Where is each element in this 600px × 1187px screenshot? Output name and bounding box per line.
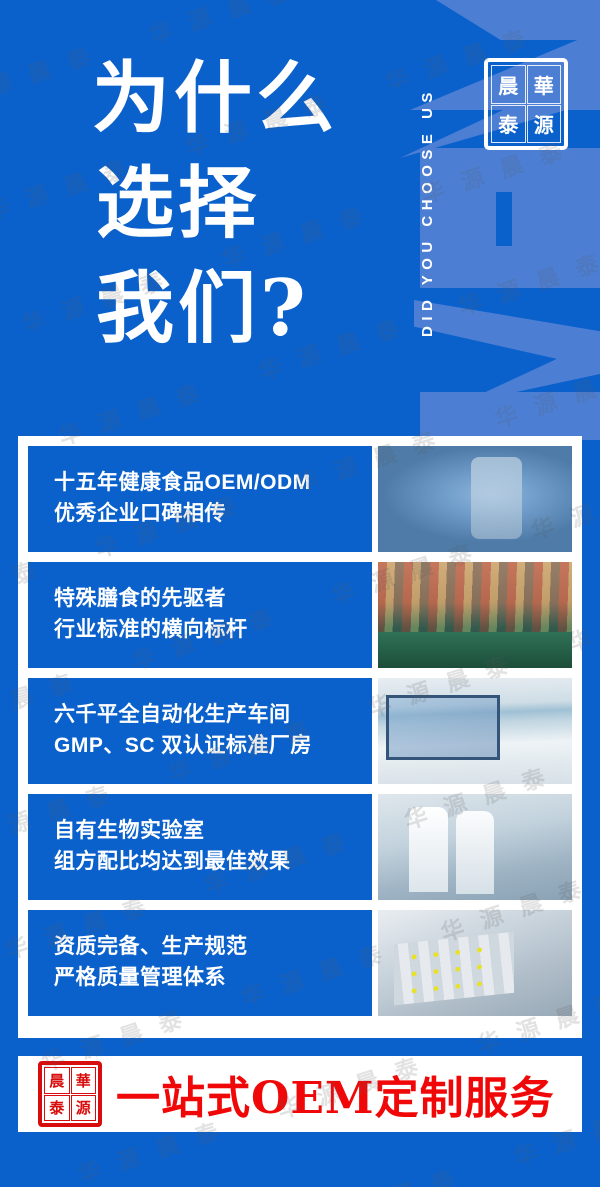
seal-char-yuan: 源 xyxy=(71,1095,97,1122)
headline-line-2: 选择 xyxy=(92,151,338,256)
seal-char-tai: 泰 xyxy=(491,105,526,144)
page-title: 为什么 选择 我们? xyxy=(92,46,338,361)
card-line-2: 行业标准的横向标杆 xyxy=(54,618,372,643)
bottom-banner[interactable]: 華 源 晨 泰 一站式OEM定制服务 xyxy=(18,1056,582,1132)
brand-seal-red: 華 源 晨 泰 xyxy=(38,1061,102,1127)
list-item[interactable]: 资质完备、生产规范 严格质量管理体系 xyxy=(28,910,572,1016)
seal-char-tai: 泰 xyxy=(44,1095,70,1122)
banner-slogan: 一站式OEM定制服务 xyxy=(116,1062,555,1126)
card-line-1: 资质完备、生产规范 xyxy=(54,935,372,960)
card-text-block: 自有生物实验室 组方配比均达到最佳效果 xyxy=(28,794,372,900)
card-line-2: GMP、SC 双认证标准厂房 xyxy=(54,734,372,759)
card-photo-cleanroom xyxy=(378,678,572,784)
poster-root: 为什么 选择 我们? DID YOU CHOOSE US 華 源 晨 泰 十五年… xyxy=(0,0,600,1187)
card-line-2: 严格质量管理体系 xyxy=(54,966,372,991)
vertical-english-tagline: DID YOU CHOOSE US xyxy=(410,26,436,398)
card-line-1: 六千平全自动化生产车间 xyxy=(54,703,372,728)
card-photo-lab-technician xyxy=(378,446,572,552)
card-text-block: 资质完备、生产规范 严格质量管理体系 xyxy=(28,910,372,1016)
card-line-2: 组方配比均达到最佳效果 xyxy=(54,850,372,875)
list-item[interactable]: 十五年健康食品OEM/ODM 优秀企业口碑相传 xyxy=(28,446,572,552)
feature-card-list: 十五年健康食品OEM/ODM 优秀企业口碑相传 特殊膳食的先驱者 行业标准的横向… xyxy=(18,436,582,1038)
headline-line-1: 为什么 xyxy=(92,46,338,151)
card-text-block: 六千平全自动化生产车间 GMP、SC 双认证标准厂房 xyxy=(28,678,372,784)
card-photo-blister-packing xyxy=(378,910,572,1016)
card-line-1: 十五年健康食品OEM/ODM xyxy=(54,471,372,496)
list-item[interactable]: 六千平全自动化生产车间 GMP、SC 双认证标准厂房 xyxy=(28,678,572,784)
card-photo-conference xyxy=(378,562,572,668)
headline-line-3: 我们? xyxy=(92,256,338,361)
list-item[interactable]: 特殊膳食的先驱者 行业标准的横向标杆 xyxy=(28,562,572,668)
seal-char-yuan: 源 xyxy=(527,105,562,144)
watermark-tile: 华 源 晨 泰 xyxy=(281,1149,517,1187)
card-line-1: 自有生物实验室 xyxy=(54,819,372,844)
card-photo-filling-line xyxy=(378,794,572,900)
brand-seal-white: 華 源 晨 泰 xyxy=(484,58,568,150)
list-item[interactable]: 自有生物实验室 组方配比均达到最佳效果 xyxy=(28,794,572,900)
seal-char-chen: 晨 xyxy=(491,65,526,104)
card-text-block: 十五年健康食品OEM/ODM 优秀企业口碑相传 xyxy=(28,446,372,552)
seal-char-hua: 華 xyxy=(71,1067,97,1094)
hero-section: 为什么 选择 我们? DID YOU CHOOSE US 華 源 晨 泰 xyxy=(0,0,600,440)
card-line-1: 特殊膳食的先驱者 xyxy=(54,587,372,612)
card-line-2: 优秀企业口碑相传 xyxy=(54,502,372,527)
card-text-block: 特殊膳食的先驱者 行业标准的横向标杆 xyxy=(28,562,372,668)
seal-char-hua: 華 xyxy=(527,65,562,104)
seal-char-chen: 晨 xyxy=(44,1067,70,1094)
